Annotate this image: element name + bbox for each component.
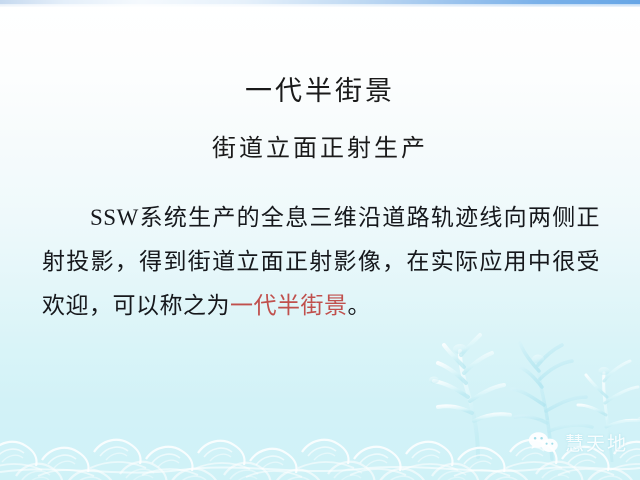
- coral-decoration-icon: [416, 327, 640, 462]
- page-subtitle: 街道立面正射生产: [0, 132, 640, 166]
- body-block: SSW系统生产的全息三维沿道路轨迹线向两侧正射投影，得到街道立面正射影像，在实际…: [42, 196, 600, 328]
- watermark: 慧天地: [528, 429, 628, 456]
- highlighted-term: 一代半街景: [230, 293, 348, 318]
- title-block: 一代半街景 街道立面正射生产: [0, 72, 640, 166]
- wechat-logo-icon: [528, 431, 558, 455]
- presentation-slide: 一代半街景 街道立面正射生产 SSW系统生产的全息三维沿道路轨迹线向两侧正射投影…: [0, 0, 640, 480]
- body-paragraph: SSW系统生产的全息三维沿道路轨迹线向两侧正射投影，得到街道立面正射影像，在实际…: [42, 196, 600, 328]
- brand-name: 慧天地: [565, 429, 628, 456]
- body-text-tail: 。: [348, 293, 372, 318]
- top-gradient-band: [0, 0, 640, 7]
- wave-decoration-icon: [0, 420, 640, 480]
- page-title: 一代半街景: [0, 72, 640, 110]
